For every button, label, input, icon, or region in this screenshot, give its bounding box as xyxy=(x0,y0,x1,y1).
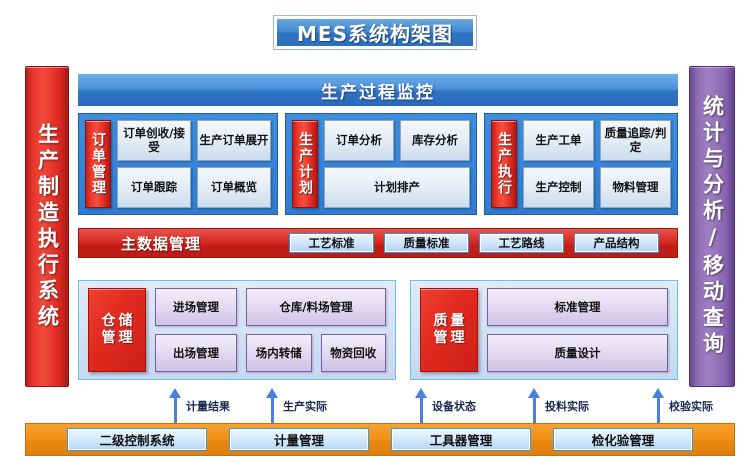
q-char-4: 理 xyxy=(451,331,465,346)
arrow-stem xyxy=(174,397,177,424)
master-data-bar: 主数据管理 工艺标准 质量标准 工艺路线 产品结构 xyxy=(78,228,678,258)
bottom-bar-systems: 二级控制系统 计量管理 工具器管理 检化验管理 xyxy=(25,423,735,456)
q-char-1: 质 xyxy=(434,314,448,329)
cell-inventory-analysis[interactable]: 库存分析 xyxy=(400,120,470,161)
header-label: 生产过程监控 xyxy=(321,78,435,103)
arrow-stem xyxy=(271,397,274,424)
cell-inbound-management[interactable]: 进场管理 xyxy=(155,288,237,326)
q-char-3: 管 xyxy=(434,331,448,346)
bottom-btn-measurement-management[interactable]: 计量管理 xyxy=(229,428,369,451)
master-btn-process-route[interactable]: 工艺路线 xyxy=(479,233,564,253)
arrow-stem xyxy=(657,397,660,424)
group-label-production-execution: 生产执行 xyxy=(491,120,517,208)
group-production-planning: 生产计划 订单分析 库存分析 计划排产 xyxy=(285,113,477,215)
cell-production-scheduling[interactable]: 计划排产 xyxy=(324,167,470,208)
cell-material-recovery[interactable]: 物资回收 xyxy=(321,334,387,372)
arrow-stem xyxy=(420,397,423,424)
group-production-execution: 生产执行 生产工单 质量追踪/判定 生产控制 物料管理 xyxy=(484,113,678,215)
bottom-btn-level2-control[interactable]: 二级控制系统 xyxy=(67,428,207,451)
sidebar-right-analytics: 统计与分析/移动查询 xyxy=(689,66,735,387)
cell-internal-transfer[interactable]: 场内转储 xyxy=(246,334,312,372)
sidebar-left-mes: 生产制造执行系统 xyxy=(25,66,69,387)
diagram-canvas: MES系统构架图 生产制造执行系统 统计与分析/移动查询 生产过程监控 订单管理… xyxy=(0,0,750,471)
master-data-title: 主数据管理 xyxy=(121,233,289,254)
arrow-label-feeding-actual: 投料实际 xyxy=(545,398,589,414)
arrow-stem xyxy=(533,397,536,424)
panel-label-warehouse-text: 仓储管理 xyxy=(102,314,133,346)
panel-label-warehouse: 仓储管理 xyxy=(88,288,146,372)
group-label-text: 订单管理 xyxy=(91,132,105,196)
sidebar-left-label: 生产制造执行系统 xyxy=(37,123,58,331)
panel-quality-management: 质量管理 标准管理 质量设计 xyxy=(410,280,678,380)
wh-char-4: 理 xyxy=(119,331,133,346)
group-order-management: 订单管理 订单创收/接受 生产订单展开 订单跟踪 订单概览 xyxy=(78,113,278,215)
arrow-label-equipment-status: 设备状态 xyxy=(432,398,476,414)
arrow-label-production-actual: 生产实际 xyxy=(283,398,327,414)
cell-quality-design[interactable]: 质量设计 xyxy=(487,334,668,372)
master-btn-quality-standard[interactable]: 质量标准 xyxy=(384,233,469,253)
group-label-text: 生产执行 xyxy=(497,132,511,196)
cell-order-create[interactable]: 订单创收/接受 xyxy=(117,120,191,161)
diagram-title-box: MES系统构架图 xyxy=(274,16,476,49)
group-label-production-planning: 生产计划 xyxy=(292,120,318,208)
q-char-2: 量 xyxy=(451,314,465,329)
cell-warehouse-yard-management[interactable]: 仓库/料场管理 xyxy=(246,288,386,326)
group-label-order-management: 订单管理 xyxy=(85,120,111,208)
cell-order-track[interactable]: 订单跟踪 xyxy=(117,167,191,208)
cell-order-overview[interactable]: 订单概览 xyxy=(197,167,271,208)
cell-standard-management[interactable]: 标准管理 xyxy=(487,288,668,326)
cell-production-control[interactable]: 生产控制 xyxy=(523,167,594,208)
page-title: MES系统构架图 xyxy=(297,18,453,47)
cell-outbound-management[interactable]: 出场管理 xyxy=(155,334,237,372)
master-btn-process-standard[interactable]: 工艺标准 xyxy=(289,233,374,253)
wh-char-3: 管 xyxy=(102,331,116,346)
bottom-btn-inspection-management[interactable]: 检化验管理 xyxy=(553,428,693,451)
header-production-monitoring: 生产过程监控 xyxy=(78,74,678,106)
panel-warehouse-management: 仓储管理 进场管理 仓库/料场管理 出场管理 场内转储 物资回收 xyxy=(78,280,396,380)
master-btn-product-structure[interactable]: 产品结构 xyxy=(574,233,659,253)
cell-material-management[interactable]: 物料管理 xyxy=(600,167,671,208)
cell-work-order[interactable]: 生产工单 xyxy=(523,120,594,161)
arrow-label-inspection-actual: 校验实际 xyxy=(669,398,713,414)
wh-char-1: 仓 xyxy=(102,314,116,329)
cell-order-expand[interactable]: 生产订单展开 xyxy=(197,120,271,161)
panel-label-quality-text: 质量管理 xyxy=(434,314,465,346)
sidebar-right-label: 统计与分析/移动查询 xyxy=(702,95,723,358)
cell-order-analysis[interactable]: 订单分析 xyxy=(324,120,394,161)
bottom-btn-tool-management[interactable]: 工具器管理 xyxy=(391,428,531,451)
panel-label-quality: 质量管理 xyxy=(420,288,478,372)
wh-char-2: 储 xyxy=(119,314,133,329)
arrow-label-measurement-result: 计量结果 xyxy=(186,398,230,414)
cell-quality-trace[interactable]: 质量追踪/判定 xyxy=(600,120,671,161)
group-label-text: 生产计划 xyxy=(298,132,312,196)
